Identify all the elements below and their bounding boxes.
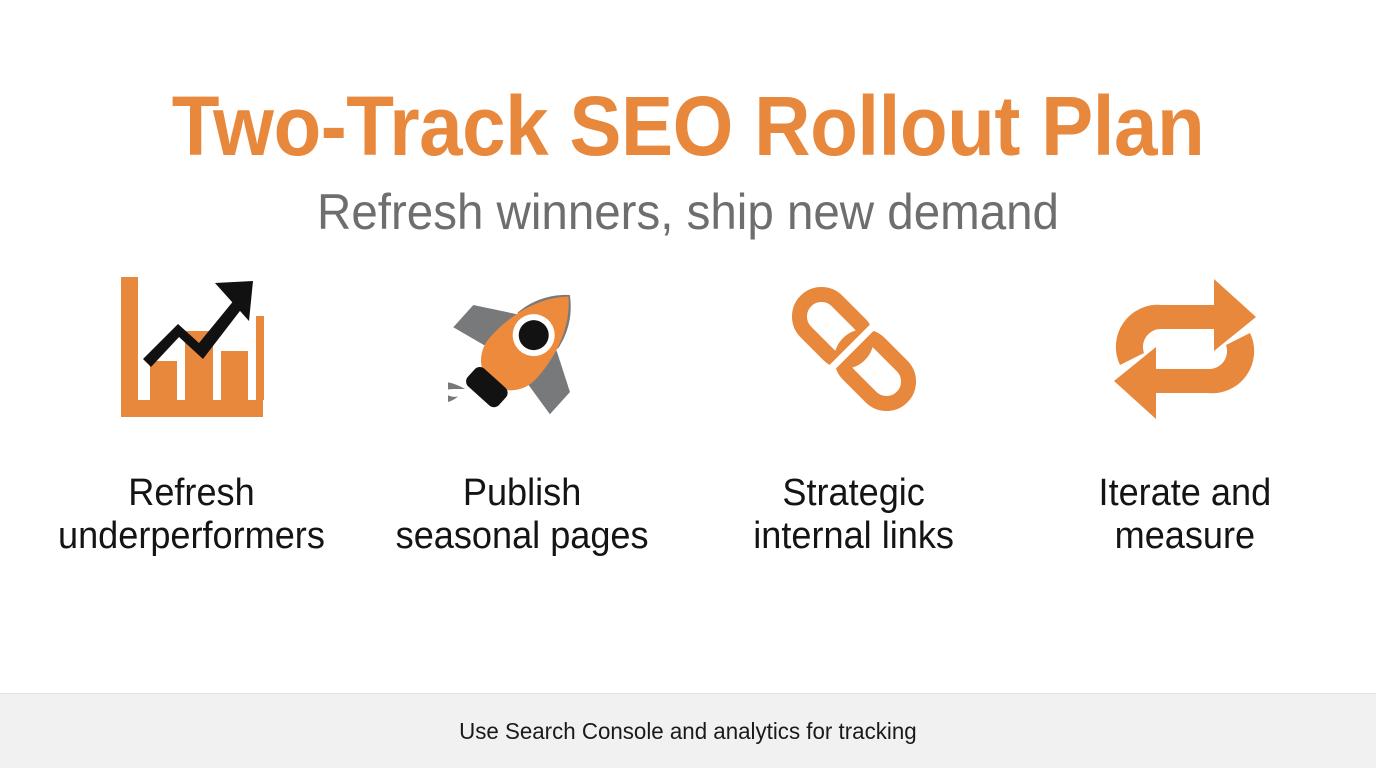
feature-column-iterate-and-measure[interactable]: Iterate and measure — [1019, 274, 1350, 557]
page-subtitle: Refresh winners, ship new demand — [34, 186, 1341, 239]
slide-canvas: Two-Track SEO Rollout Plan Refresh winne… — [0, 0, 1376, 768]
footer-note: Use Search Console and analytics for tra… — [459, 718, 917, 745]
rocket-icon — [443, 274, 603, 424]
chain-link-icon — [774, 274, 934, 424]
feature-columns: Refresh underperformers — [0, 274, 1376, 693]
feature-label: Iterate and measure — [1098, 472, 1271, 557]
slide-header: Two-Track SEO Rollout Plan Refresh winne… — [0, 0, 1376, 238]
slide-footer: Use Search Console and analytics for tra… — [0, 693, 1376, 768]
feature-label: Strategic internal links — [753, 472, 954, 557]
feature-column-publish-seasonal-pages[interactable]: Publish seasonal pages — [357, 274, 688, 557]
page-title: Two-Track SEO Rollout Plan — [48, 84, 1328, 170]
bar-chart-growth-icon — [112, 274, 272, 424]
feature-column-strategic-internal-links[interactable]: Strategic internal links — [688, 274, 1019, 557]
feature-column-refresh-underperformers[interactable]: Refresh underperformers — [26, 274, 357, 557]
feature-label: Publish seasonal pages — [396, 472, 649, 557]
feature-label: Refresh underperformers — [58, 472, 325, 557]
refresh-loop-arrows-icon — [1105, 274, 1265, 424]
